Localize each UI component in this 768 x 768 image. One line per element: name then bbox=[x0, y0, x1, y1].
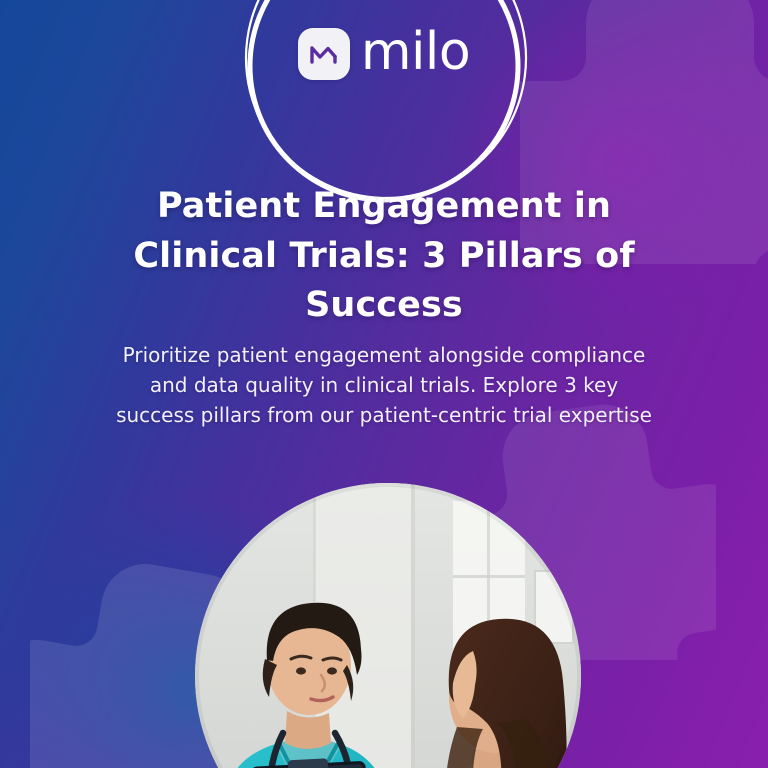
page-subtitle: Prioritize patient engagement alongside … bbox=[0, 340, 768, 431]
brand-wordmark: milo bbox=[361, 26, 470, 82]
social-promo-card: milo Patient Engagement in Clinical Tria… bbox=[0, 0, 768, 768]
brand-logo[interactable]: milo bbox=[0, 26, 768, 82]
page-title: Patient Engagement in Clinical Trials: 3… bbox=[0, 182, 768, 331]
milo-m-chart-icon bbox=[298, 28, 350, 80]
